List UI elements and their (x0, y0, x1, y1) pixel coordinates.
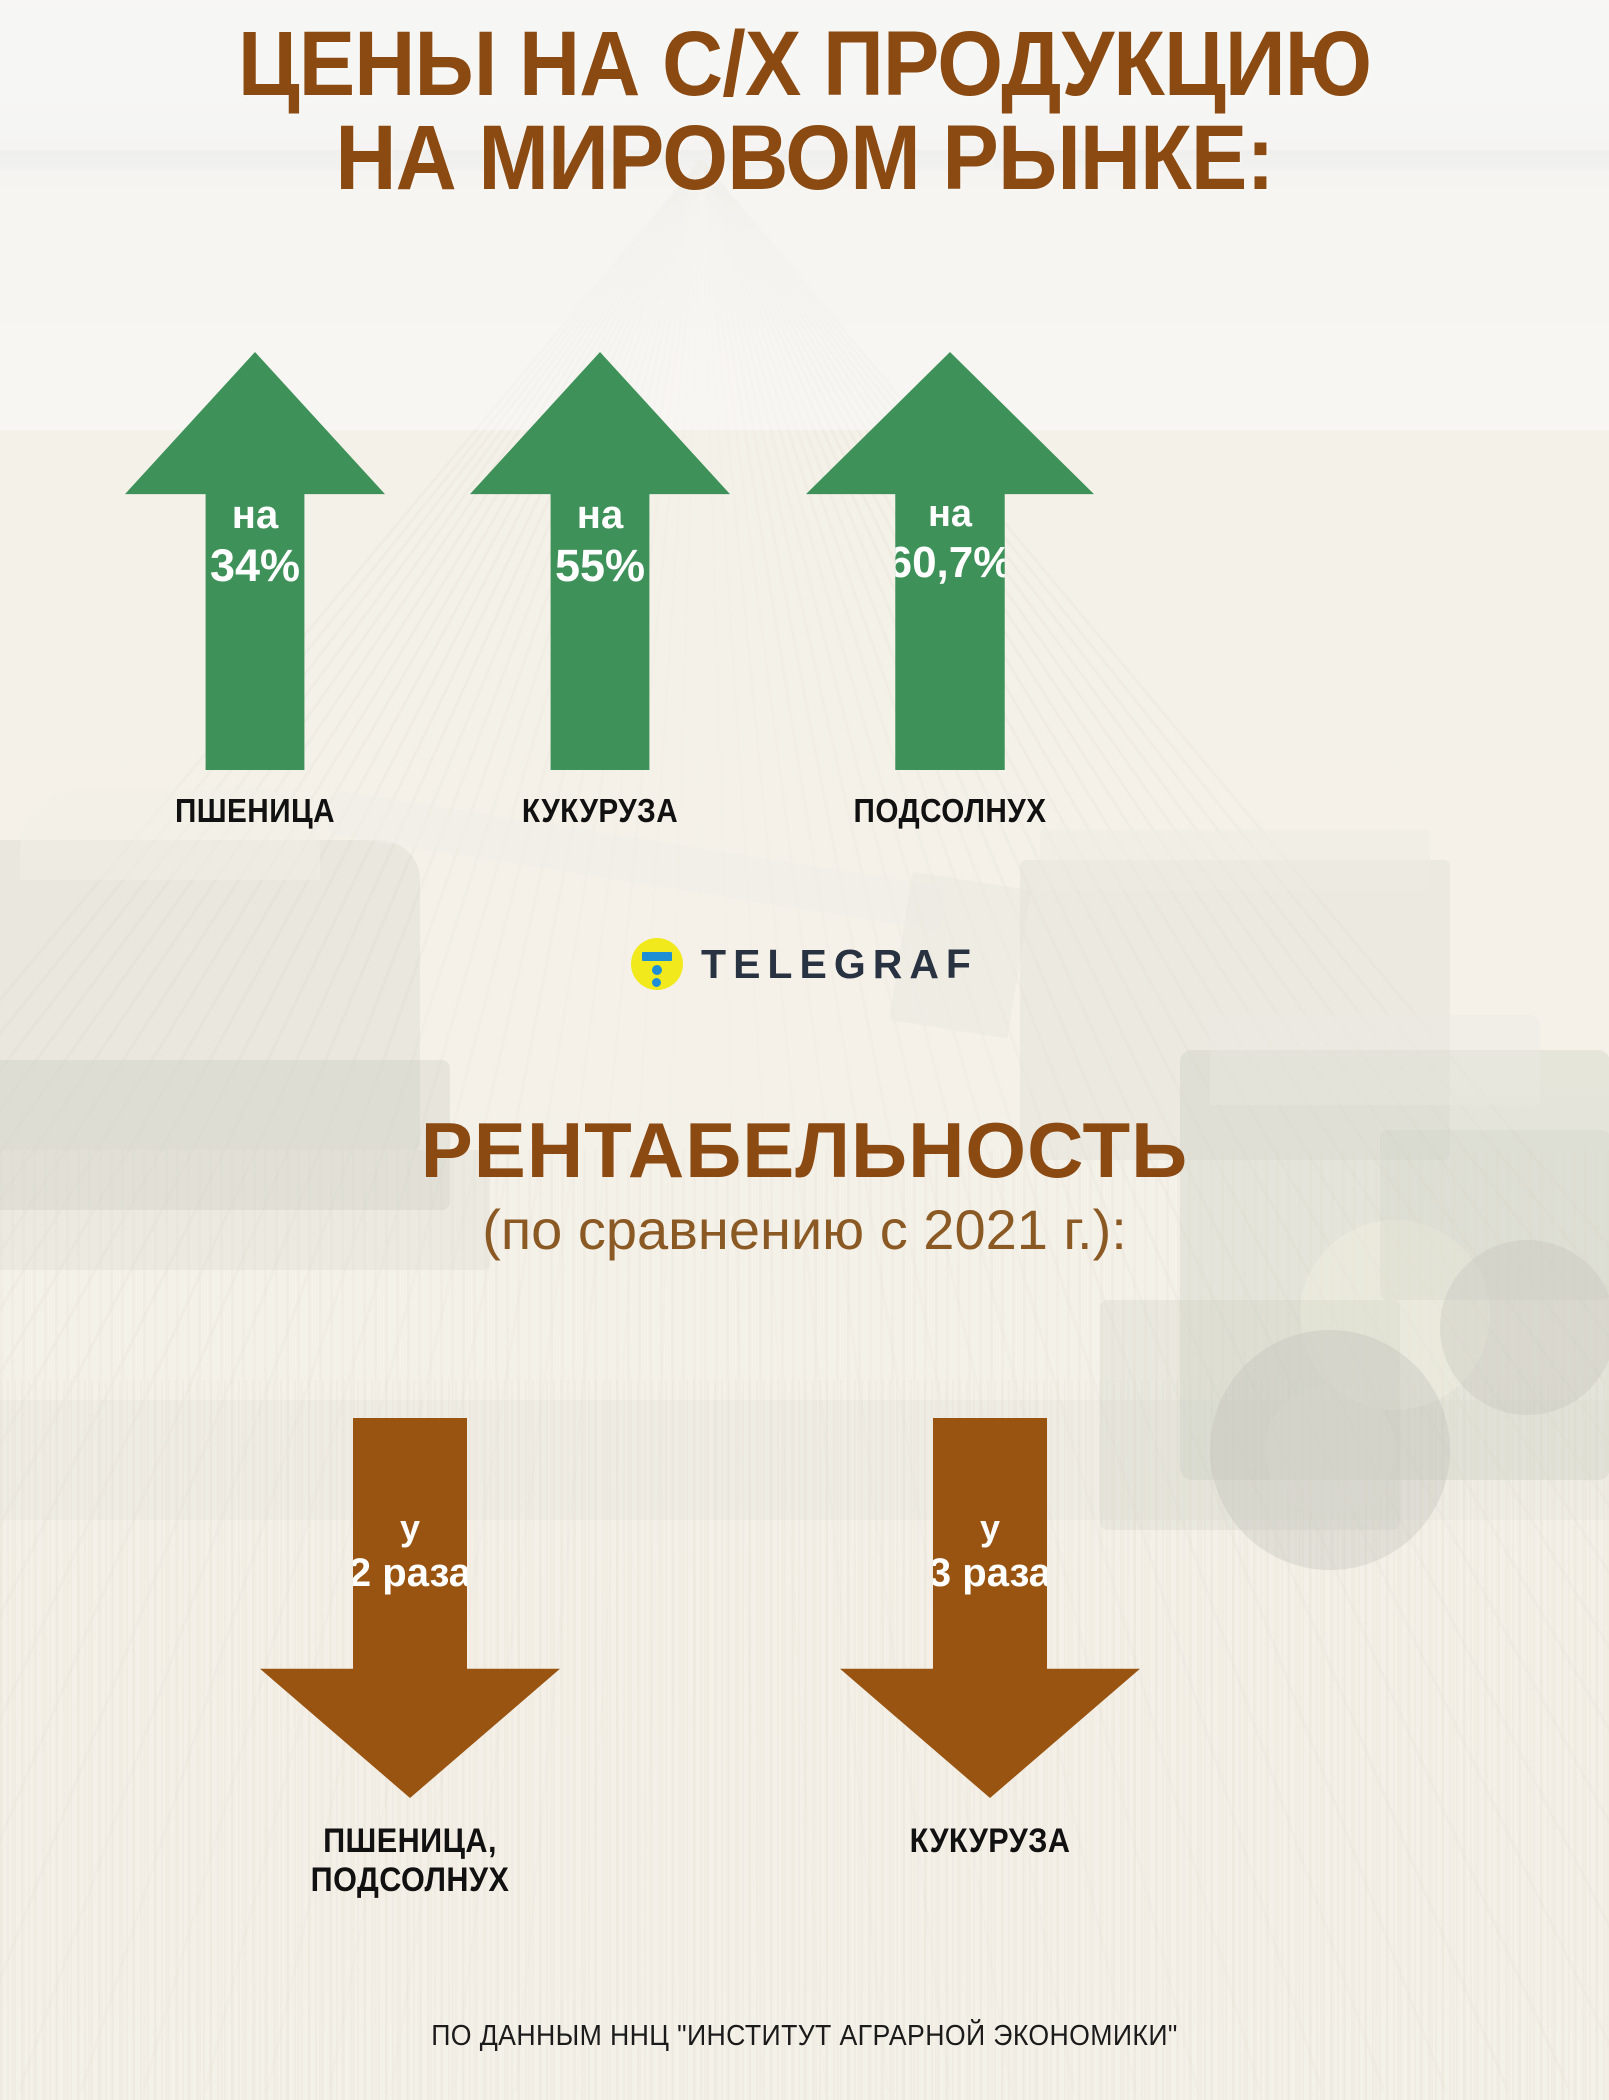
arrow-down-icon: у 3 раза (840, 1418, 1140, 1798)
arrow-up-icon: на 55% (470, 352, 730, 770)
arrow-down-value: 3 раза (840, 1549, 1140, 1597)
profitability-decrease-group: у 2 раза ПШЕНИЦА, ПОДСОЛНУХ у 3 раза КУК… (0, 1418, 1609, 1918)
page-title: ЦЕНЫ НА С/Х ПРОДУКЦИЮ НА МИРОВОМ РЫНКЕ: (0, 18, 1609, 206)
profitability-item-wheat-sunflower: у 2 раза ПШЕНИЦА, ПОДСОЛНУХ (200, 1418, 620, 1900)
profitability-heading: РЕНТАБЕЛЬНОСТЬ (по сравнению с 2021 г.): (0, 1110, 1609, 1262)
arrow-down-value-block: у 2 раза (260, 1506, 560, 1597)
source-note: ПО ДАННЫМ ННЦ "ИНСТИТУТ АГРАРНОЙ ЭКОНОМИ… (64, 2020, 1544, 2053)
arrow-up-prefix: на (928, 493, 972, 535)
arrow-up-value-block: на 55% (470, 492, 730, 592)
profitability-item-corn: у 3 раза КУКУРУЗА (780, 1418, 1200, 1861)
profitability-label-wheat-sunflower: ПШЕНИЦА, ПОДСОЛНУХ (221, 1822, 599, 1900)
arrow-down-prefix: у (980, 1507, 1000, 1548)
price-increase-group: на 34% ПШЕНИЦА на 55% КУКУРУЗА на 60,7% (0, 352, 1609, 822)
arrow-down-icon: у 2 раза (260, 1418, 560, 1798)
arrow-up-value-block: на 34% (125, 492, 385, 592)
title-line-1: ЦЕНЫ НА С/Х ПРОДУКЦИЮ (64, 18, 1544, 112)
telegraf-t-bar (642, 952, 672, 961)
arrow-down-value-block: у 3 раза (840, 1506, 1140, 1597)
telegraf-wordmark: TELEGRAF (701, 941, 978, 988)
title-line-2: НА МИРОВОМ РЫНКЕ: (64, 112, 1544, 206)
price-label-sunflower: ПОДСОЛНУХ (815, 792, 1085, 830)
arrow-up-icon: на 34% (125, 352, 385, 770)
profitability-subtitle: (по сравнению с 2021 г.): (0, 1197, 1609, 1262)
arrow-up-value: 34% (125, 539, 385, 592)
arrow-up-value: 55% (470, 539, 730, 592)
arrow-down-value: 2 раза (260, 1549, 560, 1597)
arrow-up-value-block: на 60,7% (806, 492, 1094, 589)
price-item-sunflower: на 60,7% ПОДСОЛНУХ (800, 352, 1100, 830)
price-item-corn: на 55% КУКУРУЗА (450, 352, 750, 830)
price-label-corn: КУКУРУЗА (465, 792, 735, 830)
telegraf-mark-icon (631, 938, 683, 990)
arrow-down-prefix: у (400, 1507, 420, 1548)
arrow-up-prefix: на (577, 493, 623, 537)
price-item-wheat: на 34% ПШЕНИЦА (105, 352, 405, 830)
telegraf-logo[interactable]: TELEGRAF (0, 938, 1609, 990)
price-label-wheat: ПШЕНИЦА (120, 792, 390, 830)
arrow-up-prefix: на (232, 493, 278, 537)
telegraf-dot-lower (652, 978, 661, 987)
telegraf-dot-upper (652, 965, 662, 975)
arrow-up-value: 60,7% (806, 537, 1094, 589)
profitability-title: РЕНТАБЕЛЬНОСТЬ (0, 1110, 1609, 1191)
profitability-label-corn: КУКУРУЗА (801, 1822, 1179, 1861)
arrow-up-icon: на 60,7% (806, 352, 1094, 770)
